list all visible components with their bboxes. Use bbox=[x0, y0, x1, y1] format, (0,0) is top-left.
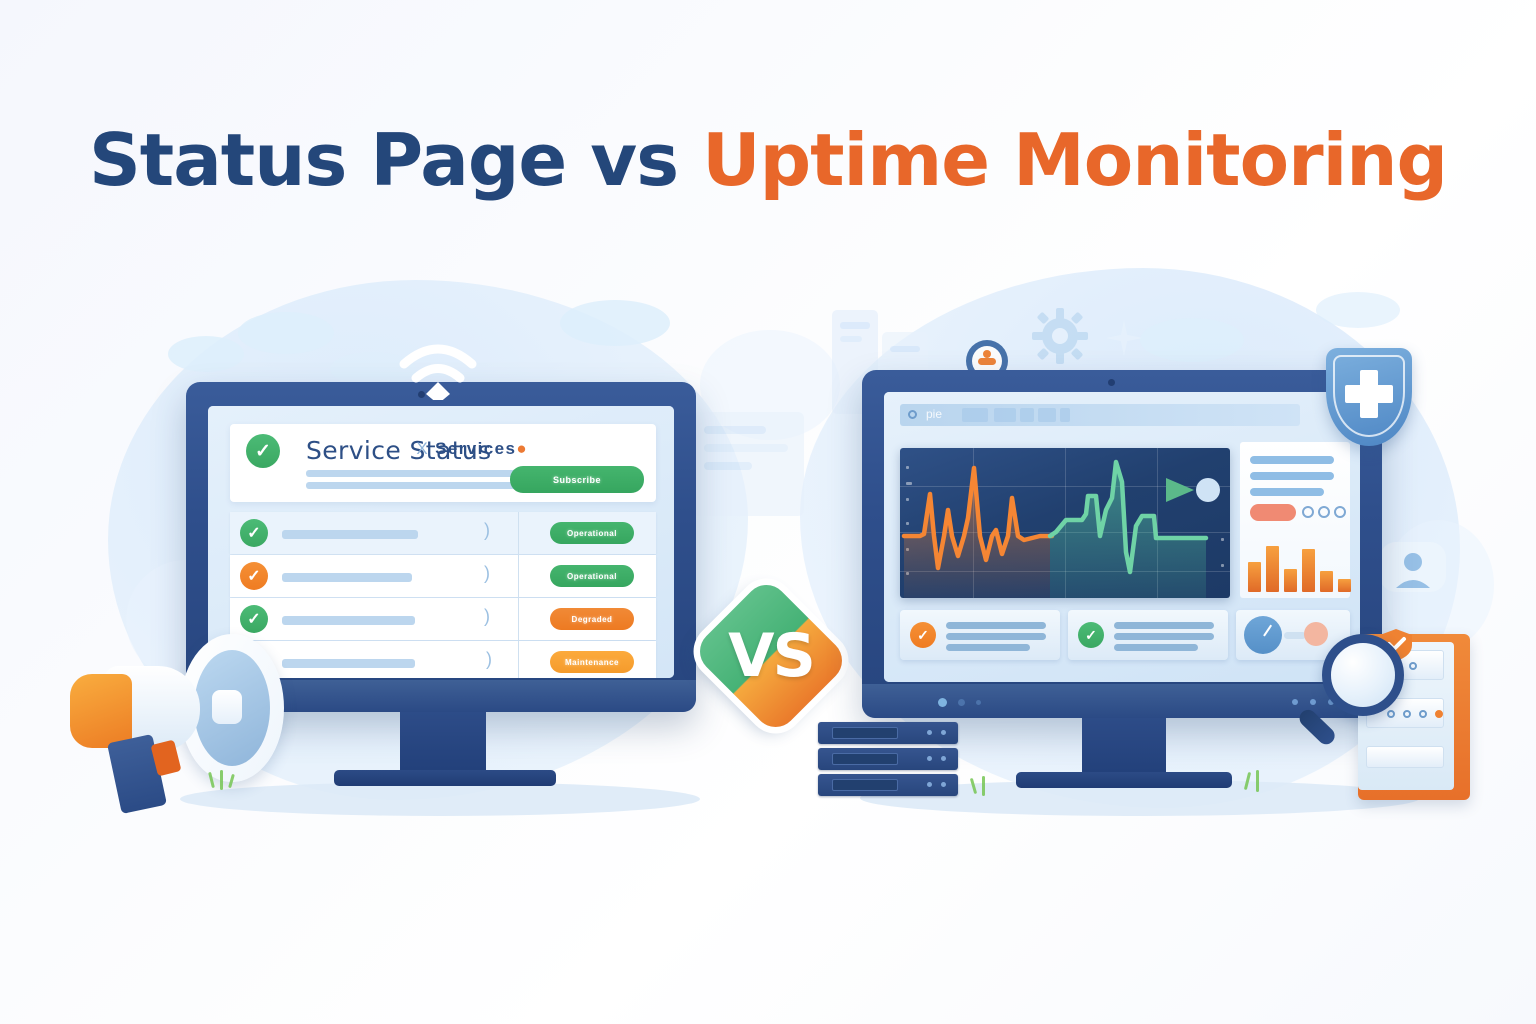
row-status-icon: ✓ bbox=[240, 562, 268, 590]
response-time-chart bbox=[900, 448, 1230, 598]
magnifier-lens bbox=[1322, 634, 1404, 716]
row-status-pill[interactable]: Operational bbox=[550, 522, 634, 544]
sidebar-ring-icon bbox=[1334, 506, 1346, 518]
grass-decor bbox=[1256, 770, 1259, 792]
server-led-active bbox=[1435, 710, 1443, 718]
row-label-bar bbox=[282, 573, 412, 582]
server-led-icon bbox=[927, 782, 932, 787]
server-slot bbox=[832, 779, 898, 791]
subscribe-button[interactable]: Subscribe bbox=[510, 466, 644, 493]
megaphone-icon bbox=[62, 630, 322, 810]
bar-chart-bar bbox=[1302, 549, 1315, 592]
monitor-neck-right bbox=[1082, 718, 1166, 776]
row-divider bbox=[518, 555, 519, 597]
monitor-base-right bbox=[1016, 772, 1232, 788]
server-led-icon bbox=[927, 730, 932, 735]
shield-body bbox=[1326, 348, 1412, 446]
card-line bbox=[946, 633, 1046, 640]
row-brace: ) bbox=[484, 563, 490, 584]
card-status-icon: ✓ bbox=[1078, 622, 1104, 648]
bar-chart-bar bbox=[1338, 579, 1351, 592]
cloud-decor bbox=[168, 336, 244, 372]
url-skeleton-seg bbox=[1060, 408, 1070, 422]
cloud-decor bbox=[1140, 318, 1244, 362]
grass-decor bbox=[220, 770, 223, 790]
server-led-icon bbox=[941, 782, 946, 787]
uptime-dashboard-app: pie bbox=[884, 392, 1360, 682]
server-rack-unit bbox=[818, 748, 958, 770]
header-skeleton-line bbox=[306, 482, 542, 489]
row-status-pill[interactable]: Degraded bbox=[550, 608, 634, 630]
header-skeleton-line bbox=[306, 470, 542, 477]
card-line bbox=[946, 622, 1046, 629]
row-status-icon: ✓ bbox=[240, 519, 268, 547]
bar-chart-bar bbox=[1284, 569, 1297, 592]
browser-url-bar[interactable]: pie bbox=[900, 404, 1300, 426]
service-logo: XServices● bbox=[416, 439, 528, 459]
vs-badge-label: VS bbox=[688, 582, 854, 730]
url-skeleton-seg bbox=[1020, 408, 1034, 422]
bar-chart-bar bbox=[1320, 571, 1333, 592]
camera-dot-icon bbox=[1108, 379, 1115, 386]
title-part-dark: Status Page vs bbox=[89, 118, 702, 202]
gauge-icon bbox=[1244, 616, 1282, 654]
cloud-decor bbox=[1316, 292, 1400, 328]
server-led-icon bbox=[941, 730, 946, 735]
wifi-icon bbox=[396, 338, 480, 400]
header-check-icon: ✓ bbox=[246, 434, 280, 468]
card-line bbox=[1114, 622, 1214, 629]
row-divider bbox=[518, 641, 519, 678]
sidebar-ring-icon bbox=[1302, 506, 1314, 518]
row-status-icon: ✓ bbox=[240, 605, 268, 633]
browser-dot-icon bbox=[908, 410, 917, 419]
server-led-icon bbox=[927, 756, 932, 761]
person-badge-icon bbox=[1378, 538, 1448, 600]
grass-decor bbox=[982, 776, 985, 796]
card-line bbox=[946, 644, 1030, 651]
monitor-screen-right: pie bbox=[884, 392, 1360, 682]
status-card[interactable]: ✓ bbox=[900, 610, 1060, 660]
row-label-bar bbox=[282, 616, 415, 625]
card-status-icon: ✓ bbox=[910, 622, 936, 648]
chart-sidebar bbox=[1240, 442, 1350, 598]
row-label-bar bbox=[282, 530, 418, 539]
monitor-neck-left bbox=[400, 712, 486, 774]
megaphone-body bbox=[70, 674, 132, 748]
sidebar-line bbox=[1250, 456, 1334, 464]
gear-icon bbox=[1032, 308, 1088, 364]
play-marker-icon bbox=[1166, 478, 1194, 502]
server-rack-unit bbox=[818, 722, 958, 744]
cloud-decor bbox=[238, 312, 334, 354]
chin-led bbox=[976, 700, 981, 705]
server-led-icon bbox=[941, 756, 946, 761]
shield-health-icon bbox=[1326, 348, 1412, 446]
chin-led bbox=[938, 698, 947, 707]
sidebar-line bbox=[1250, 472, 1334, 480]
server-slot bbox=[832, 753, 898, 765]
url-skeleton-seg bbox=[962, 408, 988, 422]
card-line bbox=[1114, 644, 1198, 651]
row-brace: ) bbox=[486, 649, 492, 670]
sidebar-pill bbox=[1250, 504, 1296, 521]
bar-chart-bar bbox=[1266, 546, 1279, 592]
service-status-header: ✓ Service Status XServices● Subscribe bbox=[230, 424, 656, 502]
url-skeleton-seg bbox=[994, 408, 1016, 422]
magnifier-handle bbox=[1296, 706, 1338, 747]
row-divider bbox=[518, 512, 519, 554]
status-card[interactable]: ✓ bbox=[1068, 610, 1228, 660]
logo-text: Services bbox=[435, 439, 516, 458]
chart-decor-icon bbox=[688, 404, 808, 524]
magnifier-icon bbox=[1296, 632, 1416, 752]
sidebar-line bbox=[1250, 488, 1324, 496]
row-divider bbox=[518, 598, 519, 640]
url-skeleton-seg bbox=[1038, 408, 1056, 422]
cloud-decor bbox=[560, 300, 670, 346]
sparkle-icon bbox=[1104, 318, 1144, 358]
server-slot bbox=[832, 727, 898, 739]
logo-x-mark: X bbox=[416, 439, 429, 458]
chart-series-layer bbox=[900, 448, 1230, 598]
sidebar-ring-icon bbox=[1318, 506, 1330, 518]
illustration-canvas: Status Page vs Uptime Monitoring bbox=[0, 0, 1536, 1024]
endpoint-dot bbox=[1196, 478, 1220, 502]
gauge-needle bbox=[1263, 624, 1272, 636]
server-led-icon bbox=[1419, 710, 1427, 718]
table-row[interactable]: ✓ ) Operational bbox=[230, 512, 656, 554]
card-line bbox=[1114, 633, 1214, 640]
url-text: pie bbox=[926, 407, 942, 421]
logo-dot-icon: ● bbox=[516, 439, 528, 458]
server-rack-unit bbox=[818, 774, 958, 796]
shield-cross-horizontal bbox=[1345, 385, 1393, 403]
title-part-orange: Uptime Monitoring bbox=[702, 118, 1447, 202]
chin-led bbox=[958, 699, 965, 706]
row-status-pill[interactable]: Operational bbox=[550, 565, 634, 587]
page-title: Status Page vs Uptime Monitoring bbox=[0, 118, 1536, 202]
server-rack-icon bbox=[818, 722, 958, 798]
row-brace: ) bbox=[484, 606, 490, 627]
megaphone-cap bbox=[212, 690, 242, 724]
monitor-base-left bbox=[334, 770, 556, 786]
bar-chart-bar bbox=[1248, 562, 1261, 592]
table-row[interactable]: ✓ ) Operational bbox=[230, 555, 656, 597]
row-status-pill[interactable]: Maintenance bbox=[550, 651, 634, 673]
vs-badge: VS bbox=[688, 582, 854, 730]
row-brace: ) bbox=[484, 520, 490, 541]
